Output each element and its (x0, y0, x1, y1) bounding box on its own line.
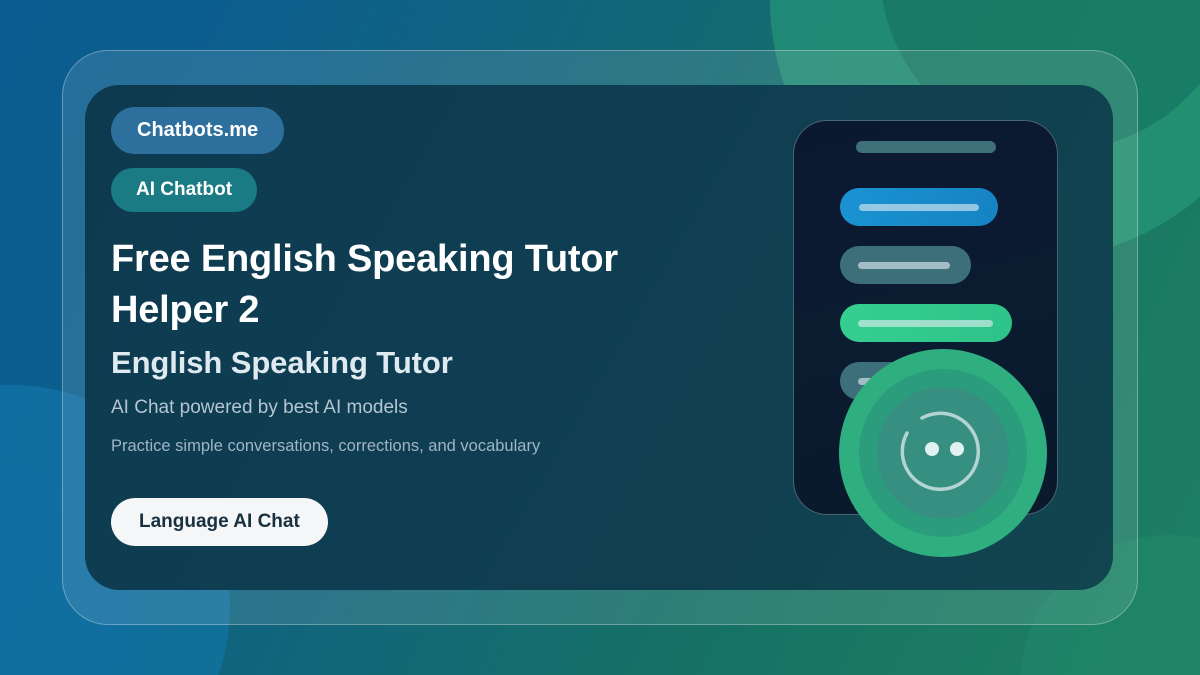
hero-content: Chatbots.me AI Chatbot Free English Spea… (111, 107, 751, 546)
message-text-placeholder (859, 204, 979, 211)
phone-status-bar (856, 141, 996, 153)
message-bubble-2 (840, 246, 971, 284)
avatar-ring-middle (859, 369, 1027, 537)
page-title: Free English Speaking Tutor Helper 2 (111, 234, 711, 335)
message-bubble-1 (840, 188, 998, 226)
page-subtitle: English Speaking Tutor (111, 345, 751, 381)
avatar-ring-inner (877, 387, 1009, 519)
smiley-face-icon (877, 387, 1009, 519)
avatar (839, 349, 1047, 557)
language-ai-chat-button[interactable]: Language AI Chat (111, 498, 328, 546)
hero-card: Chatbots.me AI Chatbot Free English Spea… (85, 85, 1113, 590)
tagline-text: AI Chat powered by best AI models (111, 397, 751, 419)
message-bubble-3 (840, 304, 1012, 342)
brand-badge[interactable]: Chatbots.me (111, 107, 284, 154)
category-badge[interactable]: AI Chatbot (111, 168, 257, 212)
message-text-placeholder (858, 320, 993, 327)
message-text-placeholder (858, 262, 950, 269)
description-text: Practice simple conversations, correctio… (111, 437, 751, 456)
